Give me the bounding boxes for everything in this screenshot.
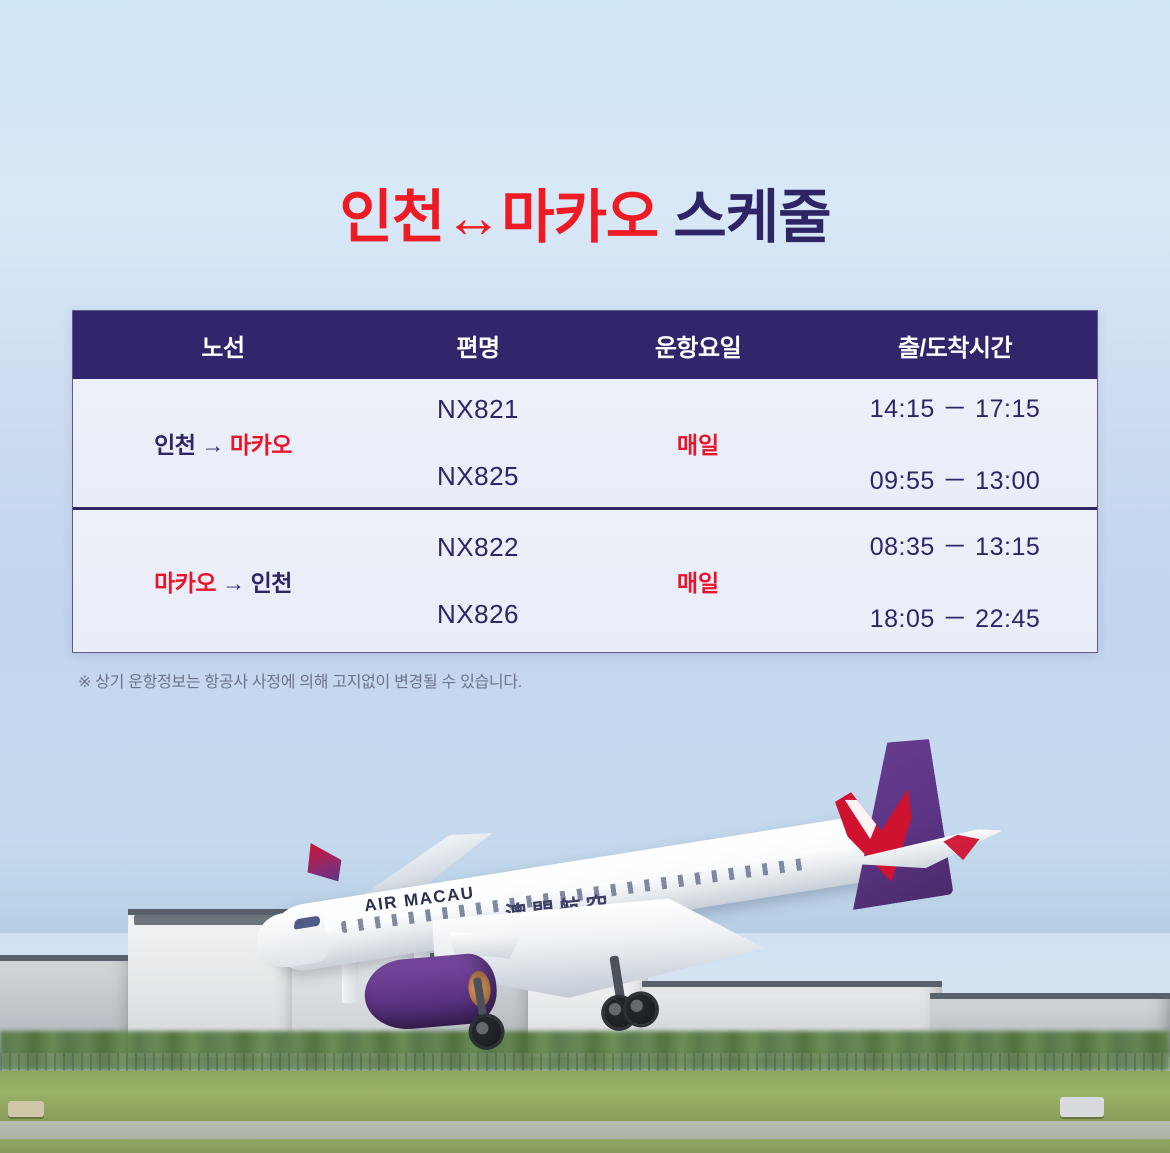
flight-list: NX821 NX825 — [437, 379, 519, 507]
days-cell: 매일 — [583, 510, 813, 652]
flight-number: NX826 — [437, 599, 519, 630]
departure-arrival-time: 09:55 － 13:00 — [870, 461, 1041, 497]
far-winglet — [294, 835, 349, 893]
days-cell: 매일 — [583, 379, 813, 507]
title-arrow-icon: ↔ — [444, 185, 501, 250]
route-arrow-icon: → — [222, 570, 245, 596]
flight-cell: NX821 NX825 — [373, 379, 583, 507]
flight-schedule-table: 노선 편명 운항요일 출/도착시간 인천→마카오 NX821 NX825 매일 — [72, 310, 1098, 653]
departure-arrival-time: 08:35 － 13:15 — [870, 527, 1041, 563]
route-label: 인천→마카오 — [154, 426, 292, 460]
column-header-route: 노선 — [73, 328, 373, 363]
time-list: 14:15 － 17:15 09:55 － 13:00 — [870, 379, 1041, 507]
route-arrow-icon: → — [201, 432, 224, 458]
route-cell: 마카오→인천 — [73, 510, 373, 652]
table-header-row: 노선 편명 운항요일 출/도착시간 — [73, 311, 1097, 379]
route-from: 인천 — [154, 432, 195, 458]
route-to: 마카오 — [230, 432, 292, 458]
disclaimer-note: ※ 상기 운항정보는 항공사 사정에 의해 고지없이 변경될 수 있습니다. — [78, 668, 522, 692]
flight-list: NX822 NX826 — [437, 510, 519, 652]
flight-cell: NX822 NX826 — [373, 510, 583, 652]
route-from: 마카오 — [154, 570, 216, 596]
title-destination: 마카오 — [501, 185, 658, 250]
grass-strip — [0, 1071, 1170, 1123]
operating-days: 매일 — [677, 426, 719, 460]
table-row: 마카오→인천 NX822 NX826 매일 08:35 － 13:15 18:0… — [73, 507, 1097, 652]
table-row: 인천→마카오 NX821 NX825 매일 14:15 － 17:15 09:5… — [73, 379, 1097, 507]
grass-strip-foreground — [0, 1139, 1170, 1153]
flight-number: NX825 — [437, 461, 519, 492]
time-list: 08:35 － 13:15 18:05 － 22:45 — [870, 510, 1041, 652]
column-header-time: 출/도착시간 — [813, 328, 1097, 363]
time-cell: 14:15 － 17:15 09:55 － 13:00 — [813, 379, 1097, 507]
title-origin: 인천 — [339, 185, 444, 250]
title-suffix: 스케줄 — [673, 185, 830, 250]
column-header-days: 운항요일 — [583, 328, 813, 363]
flight-number: NX821 — [437, 394, 519, 425]
departure-arrival-time: 18:05 － 22:45 — [870, 599, 1041, 635]
page-title: 인천↔마카오 스케줄 — [0, 186, 1170, 250]
schedule-poster: AIR MACAU 澳門航空 B-MCK 인천↔마카오 스케줄 노선 편명 운항… — [0, 0, 1170, 1153]
route-label: 마카오→인천 — [154, 564, 292, 598]
departure-arrival-time: 14:15 － 17:15 — [870, 389, 1041, 425]
flight-number: NX822 — [437, 532, 519, 563]
route-cell: 인천→마카오 — [73, 379, 373, 507]
service-truck — [1060, 1097, 1104, 1117]
column-header-flight: 편명 — [373, 328, 583, 363]
route-to: 인천 — [251, 570, 292, 596]
time-cell: 08:35 － 13:15 18:05 － 22:45 — [813, 510, 1097, 652]
service-truck-2 — [8, 1101, 44, 1117]
operating-days: 매일 — [677, 564, 719, 598]
